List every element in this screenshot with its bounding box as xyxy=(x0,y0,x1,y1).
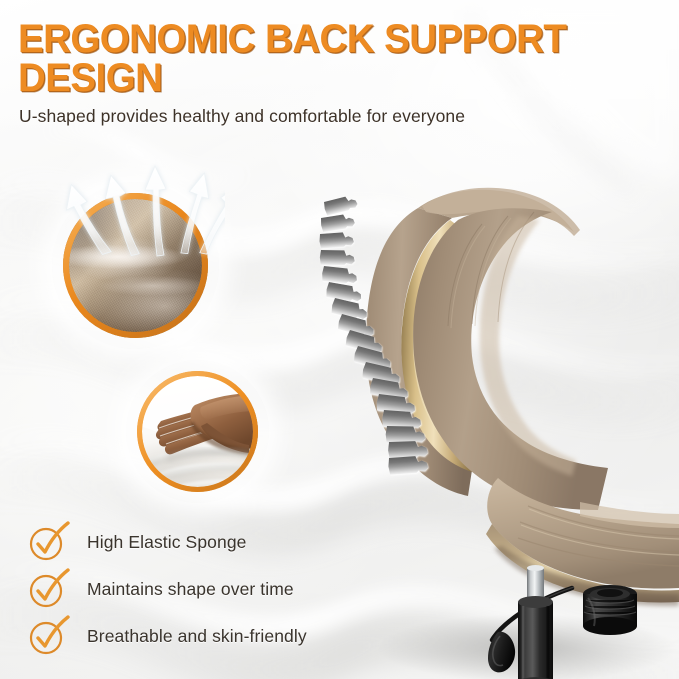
list-item-label: High Elastic Sponge xyxy=(87,532,247,553)
feature-list: High Elastic Sponge Maintains shape over… xyxy=(30,519,450,660)
inset-memory-foam-hand xyxy=(137,371,258,492)
product-feature-banner: ERGONOMIC BACK SUPPORT DESIGN U-shaped p… xyxy=(0,0,679,679)
airflow-arrows-group xyxy=(55,152,225,262)
list-item-label: Breathable and skin-friendly xyxy=(87,626,307,647)
check-circle-icon xyxy=(30,572,66,608)
check-circle-icon xyxy=(30,525,66,561)
page-title: ERGONOMIC BACK SUPPORT DESIGN xyxy=(18,20,613,98)
check-circle-icon xyxy=(30,619,66,655)
page-subtitle: U-shaped provides healthy and comfortabl… xyxy=(19,106,465,127)
list-item: Breathable and skin-friendly xyxy=(30,613,450,660)
list-item: High Elastic Sponge xyxy=(30,519,450,566)
list-item-label: Maintains shape over time xyxy=(87,579,294,600)
spine-vertebrae-graphic xyxy=(300,188,430,488)
list-item: Maintains shape over time xyxy=(30,566,450,613)
